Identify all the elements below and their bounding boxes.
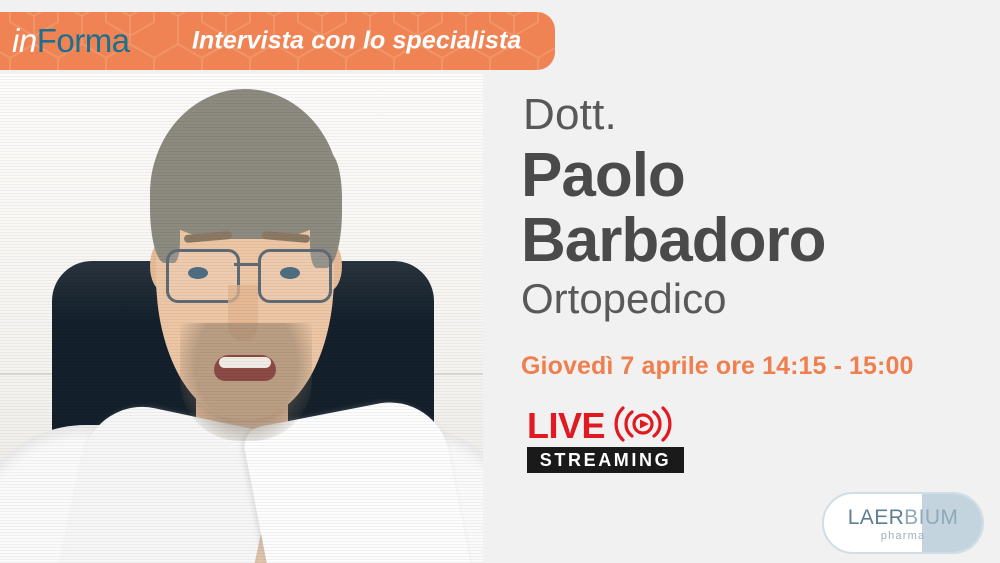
informa-logo: inForma bbox=[12, 24, 130, 57]
live-badge-top-row: LIVE bbox=[527, 406, 727, 446]
brand-name-part2: BIUM bbox=[904, 506, 958, 529]
speaker-last-name: Barbadoro bbox=[521, 205, 825, 276]
brand-tagline: pharma bbox=[824, 531, 982, 542]
promo-slide: inForma Intervista con lo specialista bbox=[0, 0, 1000, 563]
speaker-role: Ortopedico bbox=[521, 275, 726, 323]
photo-grain-overlay bbox=[0, 73, 483, 563]
speaker-first-name: Paolo bbox=[521, 140, 685, 211]
live-label: LIVE bbox=[527, 408, 605, 444]
banner-subtitle: Intervista con lo specialista bbox=[192, 27, 521, 56]
streaming-bar: STREAMING bbox=[527, 447, 684, 473]
streaming-label: STREAMING bbox=[540, 451, 671, 469]
header-banner: inForma Intervista con lo specialista bbox=[0, 12, 555, 70]
event-schedule: Giovedì 7 aprile ore 14:15 - 15:00 bbox=[521, 352, 913, 381]
live-streaming-badge: LIVE STREAMING bbox=[527, 406, 727, 478]
speaker-photo bbox=[0, 73, 483, 563]
broadcast-play-icon bbox=[610, 405, 676, 448]
brand-name-part1: LAER bbox=[848, 506, 904, 529]
speaker-details-panel: Dott. Paolo Barbadoro Ortopedico Giovedì… bbox=[483, 0, 1000, 563]
informa-logo-forma: Forma bbox=[37, 22, 130, 59]
laerbium-pharma-logo: LAERBIUM pharma bbox=[822, 492, 984, 554]
informa-logo-in: in bbox=[12, 22, 37, 59]
speaker-honorific: Dott. bbox=[523, 90, 617, 140]
capsule-brand-name: LAERBIUM bbox=[824, 507, 982, 528]
